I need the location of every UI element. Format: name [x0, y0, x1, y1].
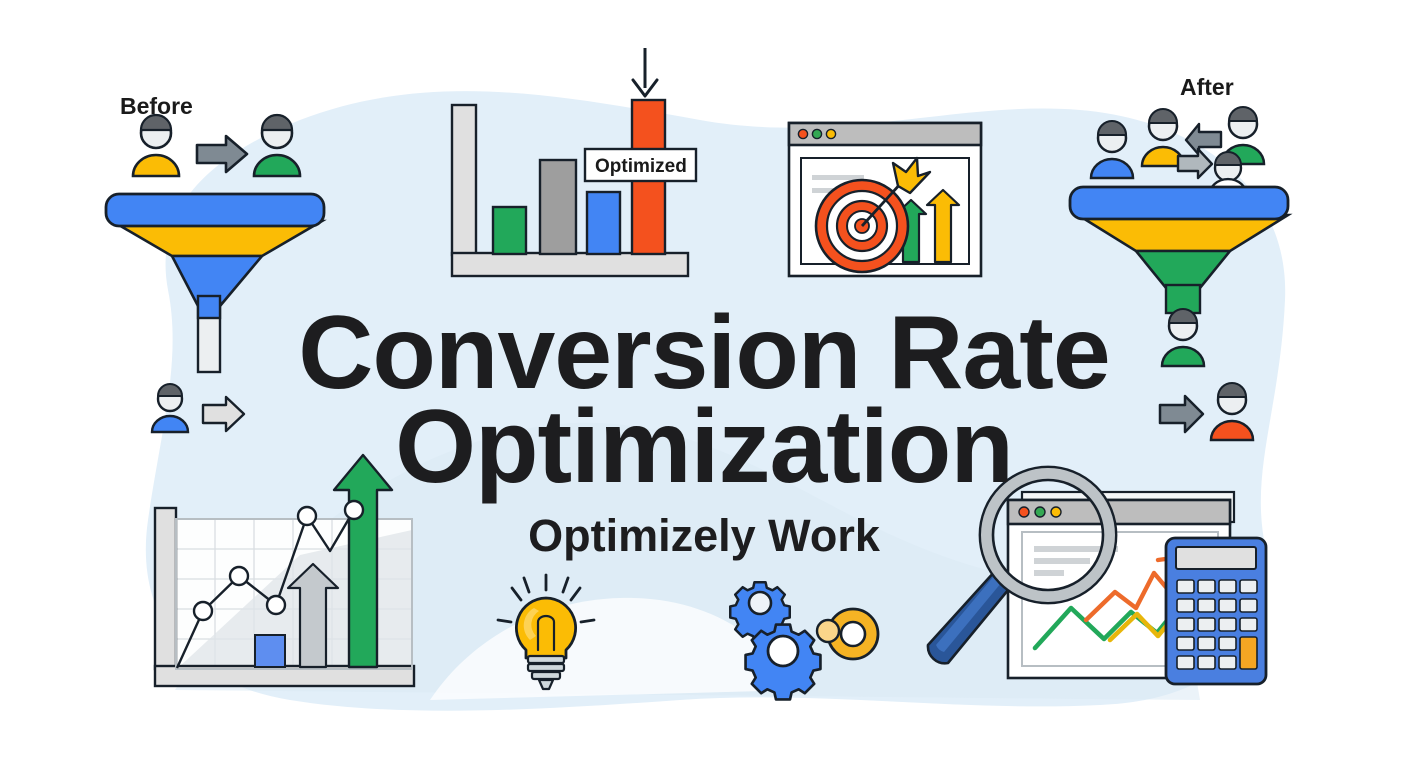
illustration-canvas: Before: [0, 0, 1408, 768]
headline-block: Conversion Rate Optimization Optimizely …: [0, 0, 1408, 768]
page-title-line-2: Optimization: [395, 389, 1013, 505]
page-subtitle: Optimizely Work: [528, 510, 881, 561]
